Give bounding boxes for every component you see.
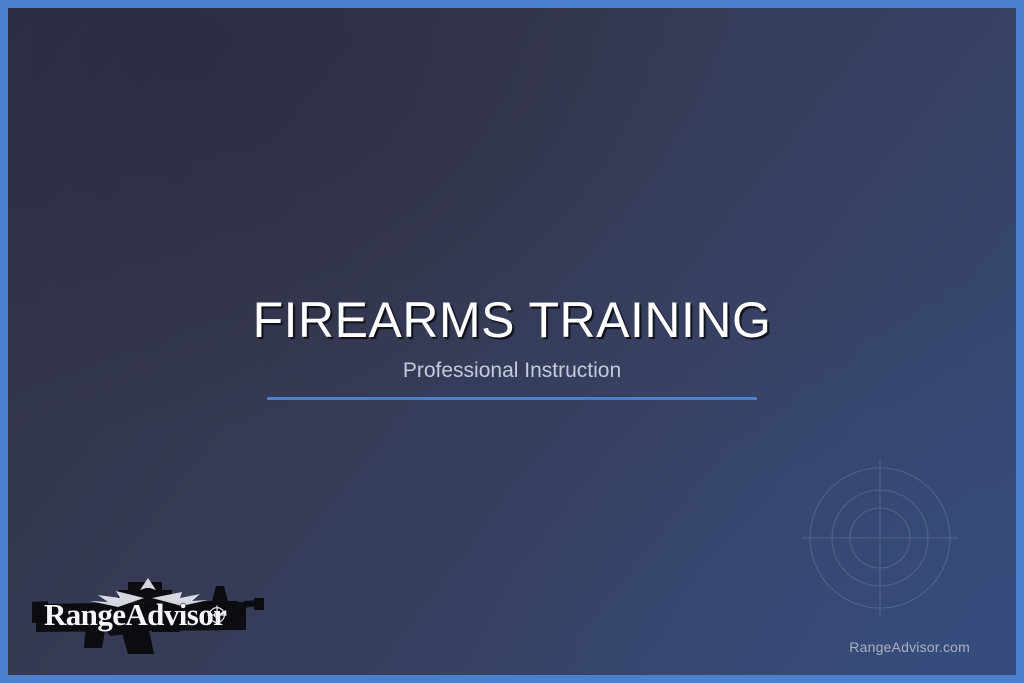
footer-website: RangeAdvisor.com	[849, 639, 970, 655]
brand-logo: RangeAdvisor	[32, 568, 264, 654]
title-block: FIREARMS TRAINING Professional Instructi…	[8, 294, 1016, 400]
page-subtitle: Professional Instruction	[8, 359, 1016, 382]
title-divider	[267, 397, 757, 400]
page-title: FIREARMS TRAINING	[8, 294, 1016, 347]
brand-wordmark: RangeAdvisor	[44, 597, 227, 632]
presentation-slide: FIREARMS TRAINING Professional Instructi…	[0, 0, 1024, 683]
